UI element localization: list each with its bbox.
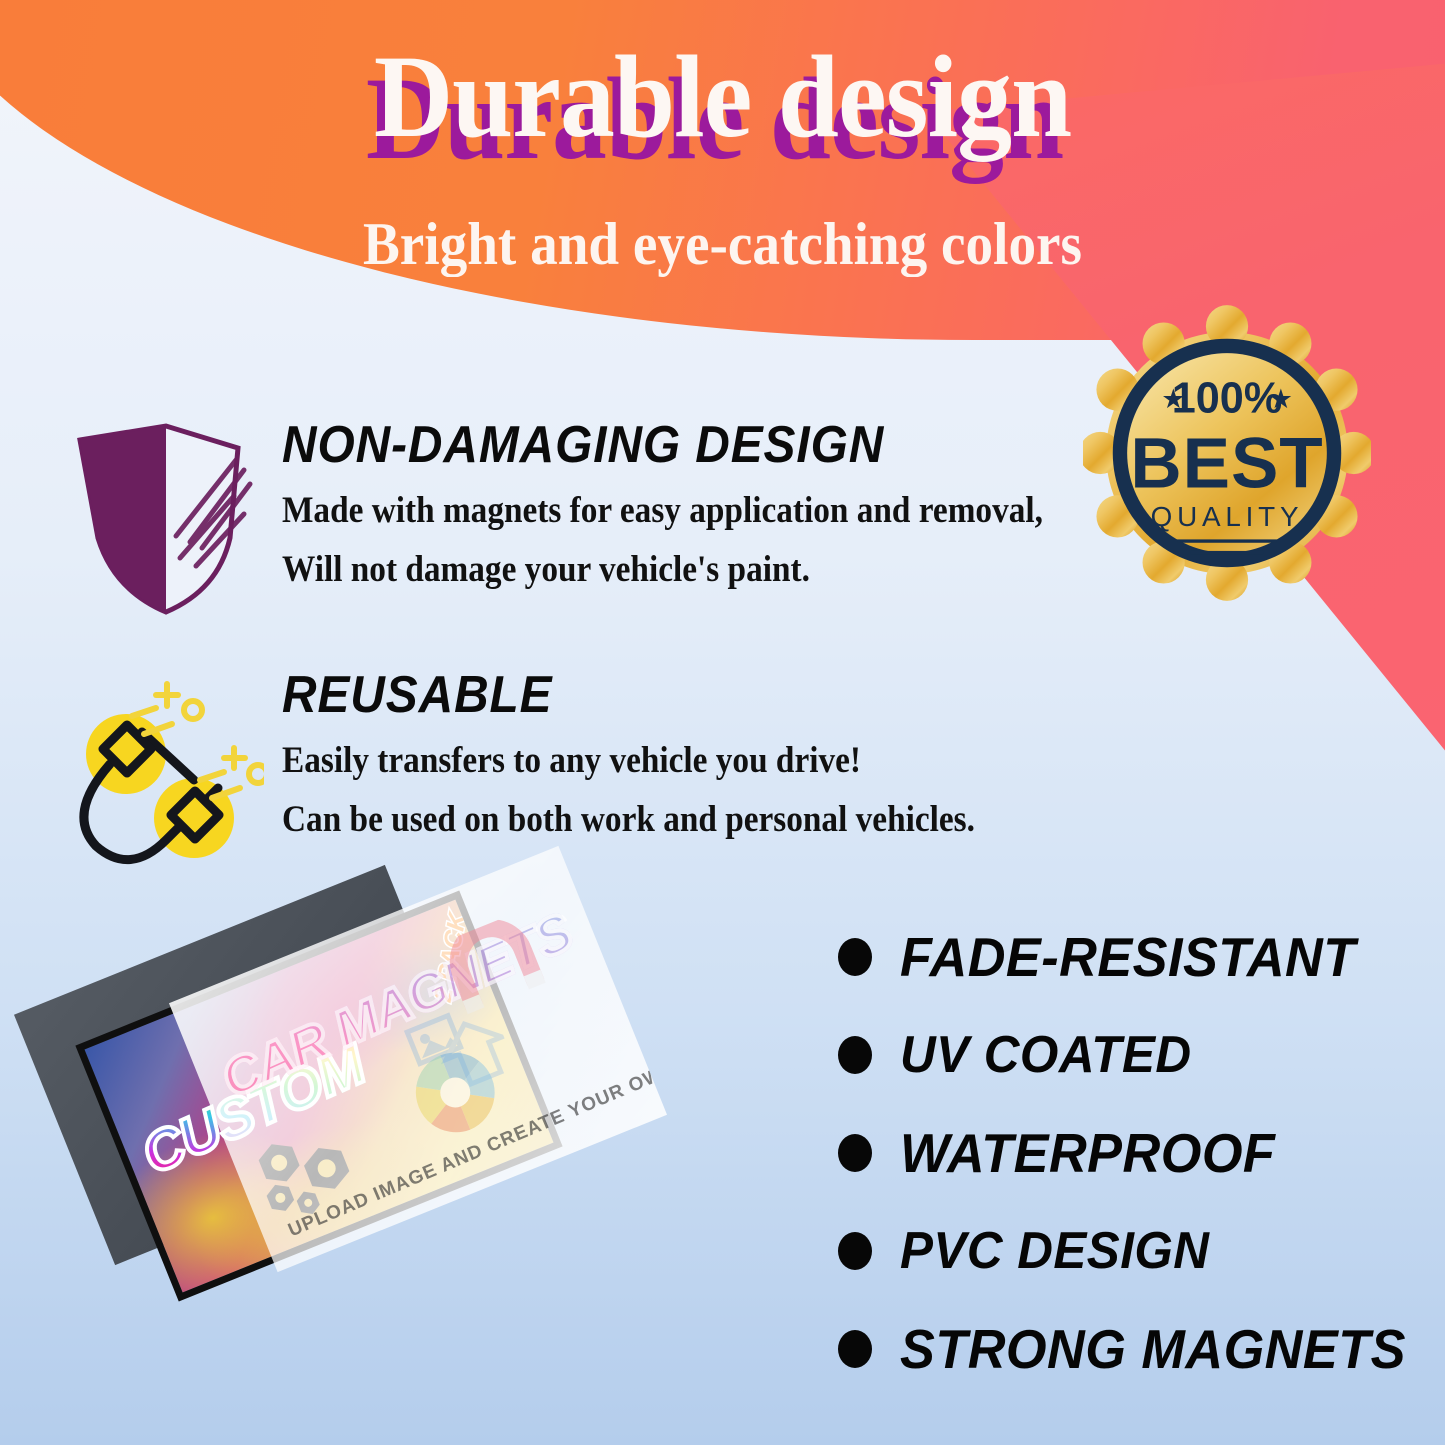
bullet-dot-icon	[838, 1330, 872, 1368]
bullet-label: FADE-RESISTANT	[900, 925, 1356, 989]
bullet-label: UV COATED	[900, 1025, 1192, 1085]
badge-rule-2	[1191, 551, 1264, 554]
product-infographic: Durable design Durable design Bright and…	[0, 0, 1445, 1445]
list-item: PVC DESIGN	[838, 1202, 1438, 1300]
bullet-dot-icon	[838, 1232, 872, 1270]
badge-star-right: ★	[1269, 384, 1293, 414]
feature-line: Easily transfers to any vehicle you driv…	[282, 739, 975, 782]
list-item: STRONG MAGNETS	[838, 1300, 1438, 1398]
feature-body: REUSABLE Easily transfers to any vehicle…	[282, 668, 1052, 841]
product-mockup: CUSTOM 2 PACK CAR M	[40, 900, 660, 1420]
feature-title: NON-DAMAGING DESIGN	[282, 418, 1060, 473]
feature-body: NON-DAMAGING DESIGN Made with magnets fo…	[282, 418, 1128, 591]
feature-line: Will not damage your vehicle's paint.	[282, 548, 1043, 591]
shield-icon	[68, 418, 264, 623]
badge-main-text: BEST	[1130, 425, 1323, 504]
feature-line: Can be used on both work and personal ve…	[282, 798, 975, 841]
magnet-icon	[68, 668, 264, 883]
bullet-dot-icon	[838, 1036, 872, 1074]
bullet-dot-icon	[838, 1134, 872, 1172]
list-item: FADE-RESISTANT	[838, 908, 1438, 1006]
feature-bullet-list: FADE-RESISTANT UV COATED WATERPROOF PVC …	[838, 908, 1438, 1398]
badge-percent: 100%	[1172, 375, 1282, 423]
feature-line: Made with magnets for easy application a…	[282, 489, 1043, 532]
feature-title: REUSABLE	[282, 668, 990, 723]
list-item: WATERPROOF	[838, 1104, 1438, 1202]
badge-rule-1	[1177, 539, 1277, 542]
list-item: UV COATED	[838, 1006, 1438, 1104]
feature-non-damaging-design: NON-DAMAGING DESIGN Made with magnets fo…	[68, 418, 1128, 623]
badge-star-left: ★	[1161, 384, 1185, 414]
badge-sub-text: QUALITY	[1151, 501, 1304, 532]
bullet-label: WATERPROOF	[900, 1121, 1275, 1185]
bullet-dot-icon	[838, 938, 872, 976]
bullet-label: PVC DESIGN	[900, 1221, 1209, 1281]
bullet-label: STRONG MAGNETS	[900, 1317, 1406, 1381]
